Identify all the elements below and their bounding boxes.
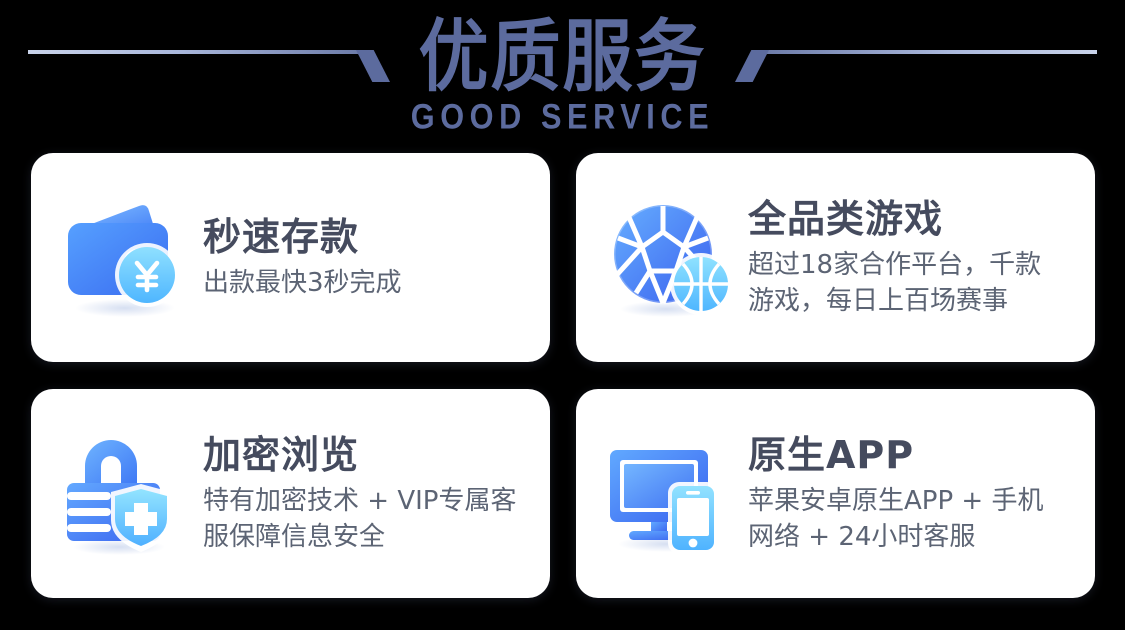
soccer-basketball-icon xyxy=(604,192,736,324)
card-description-line: 网络 + 24小时客服 xyxy=(748,519,1073,555)
card-description: 超过18家合作平台，千款 游戏，每日上百场赛事 xyxy=(748,247,1073,319)
card-description: 特有加密技术 + VIP专属客 服保障信息安全 xyxy=(203,483,528,555)
monitor-phone-icon xyxy=(604,428,736,560)
card-title: 秒速存款 xyxy=(203,215,528,259)
card-text-block: 加密浏览 特有加密技术 + VIP专属客 服保障信息安全 xyxy=(203,433,528,555)
feature-card-deposit[interactable]: 秒速存款 出款最快3秒完成 xyxy=(31,153,550,362)
feature-card-grid: 秒速存款 出款最快3秒完成 xyxy=(31,153,1095,598)
card-description-line: 苹果安卓原生APP + 手机 xyxy=(748,483,1073,519)
page-title: 优质服务 xyxy=(0,14,1125,99)
card-description-line: 超过18家合作平台，千款 xyxy=(748,247,1073,283)
page-root: 优质服务 GOOD SERVICE xyxy=(0,0,1125,630)
card-text-block: 全品类游戏 超过18家合作平台，千款 游戏，每日上百场赛事 xyxy=(748,197,1073,319)
page-header: 优质服务 GOOD SERVICE xyxy=(0,0,1125,150)
feature-card-native-app[interactable]: 原生APP 苹果安卓原生APP + 手机 网络 + 24小时客服 xyxy=(576,389,1095,598)
card-title: 原生APP xyxy=(748,433,1073,477)
card-description-line: 出款最快3秒完成 xyxy=(203,265,528,301)
page-subtitle: GOOD SERVICE xyxy=(39,97,1085,136)
card-description: 出款最快3秒完成 xyxy=(203,265,528,301)
wallet-yen-icon xyxy=(59,192,191,324)
card-text-block: 秒速存款 出款最快3秒完成 xyxy=(203,215,528,301)
lock-shield-icon xyxy=(59,428,191,560)
feature-card-games[interactable]: 全品类游戏 超过18家合作平台，千款 游戏，每日上百场赛事 xyxy=(576,153,1095,362)
card-description-line: 特有加密技术 + VIP专属客 xyxy=(203,483,528,519)
card-title: 全品类游戏 xyxy=(748,197,1073,241)
card-description: 苹果安卓原生APP + 手机 网络 + 24小时客服 xyxy=(748,483,1073,555)
card-description-line: 游戏，每日上百场赛事 xyxy=(748,283,1073,319)
card-text-block: 原生APP 苹果安卓原生APP + 手机 网络 + 24小时客服 xyxy=(748,433,1073,555)
card-description-line: 服保障信息安全 xyxy=(203,519,528,555)
feature-card-encryption[interactable]: 加密浏览 特有加密技术 + VIP专属客 服保障信息安全 xyxy=(31,389,550,598)
card-title: 加密浏览 xyxy=(203,433,528,477)
